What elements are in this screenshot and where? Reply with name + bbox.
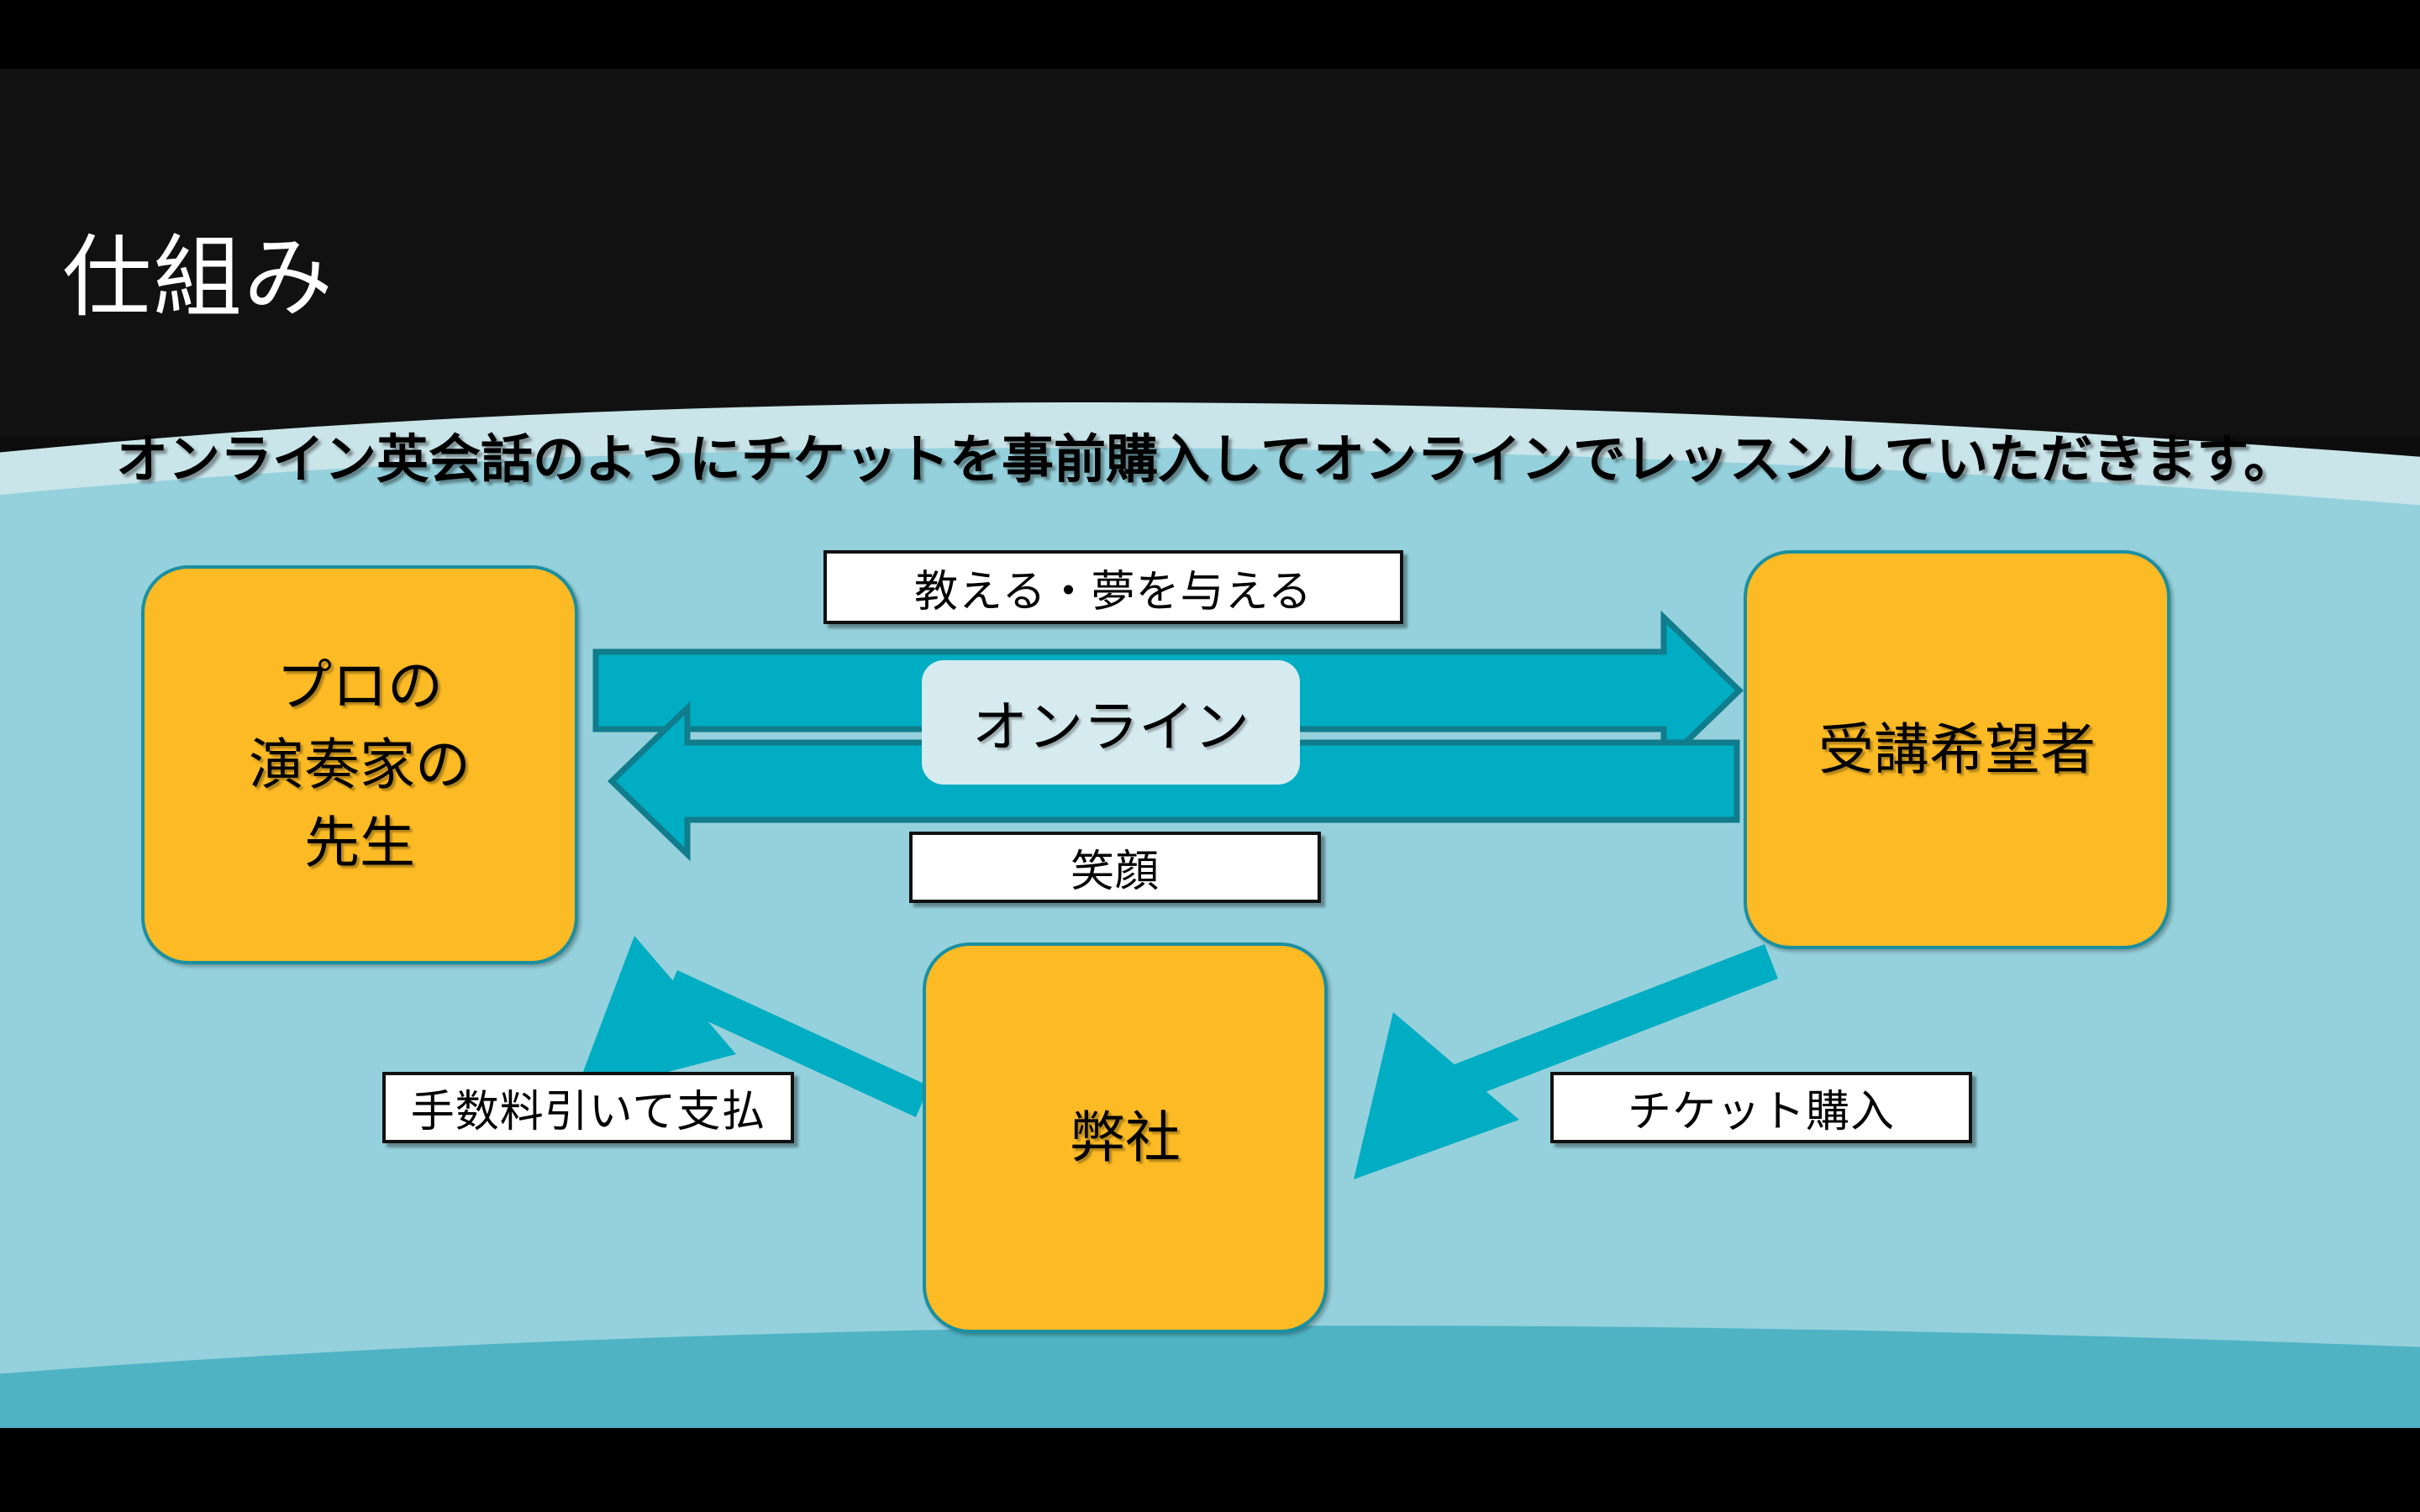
node-company-label: 弊社	[1070, 1099, 1181, 1178]
online-pill-label: オンライン	[972, 682, 1249, 763]
node-student-label: 受講希望者	[1818, 711, 2096, 790]
node-company[interactable]: 弊社	[923, 942, 1328, 1333]
node-student[interactable]: 受講希望者	[1744, 550, 2170, 949]
caption-payout-label: 手数料引いて支払	[411, 1076, 765, 1139]
letterbox-top	[0, 0, 2420, 69]
caption-payout: 手数料引いて支払	[382, 1072, 794, 1143]
caption-ticket: チケット購入	[1550, 1072, 1972, 1143]
caption-teach-label: 教える・夢を与える	[914, 556, 1313, 619]
online-pill: オンライン	[922, 660, 1300, 785]
letterbox-bottom	[0, 1428, 2420, 1512]
slide-subtitle: オンライン英会話のようにチケットを事前購入してオンラインでレッスンしていただきま…	[116, 432, 2296, 489]
caption-ticket-label: チケット購入	[1628, 1076, 1895, 1139]
node-teacher-label: プロの 演奏家の 先生	[249, 647, 471, 883]
node-teacher[interactable]: プロの 演奏家の 先生	[141, 565, 578, 964]
page-title: 仕組み	[62, 228, 334, 328]
caption-smile-label: 笑顔	[1071, 836, 1160, 899]
caption-smile: 笑顔	[909, 832, 1321, 903]
slide-canvas: 仕組み オンライン英会話のようにチケットを事前購入してオンラインでレッスンしてい…	[0, 0, 2420, 1512]
arrow-student-to-company	[1354, 944, 1778, 1179]
caption-teach: 教える・夢を与える	[823, 550, 1403, 624]
